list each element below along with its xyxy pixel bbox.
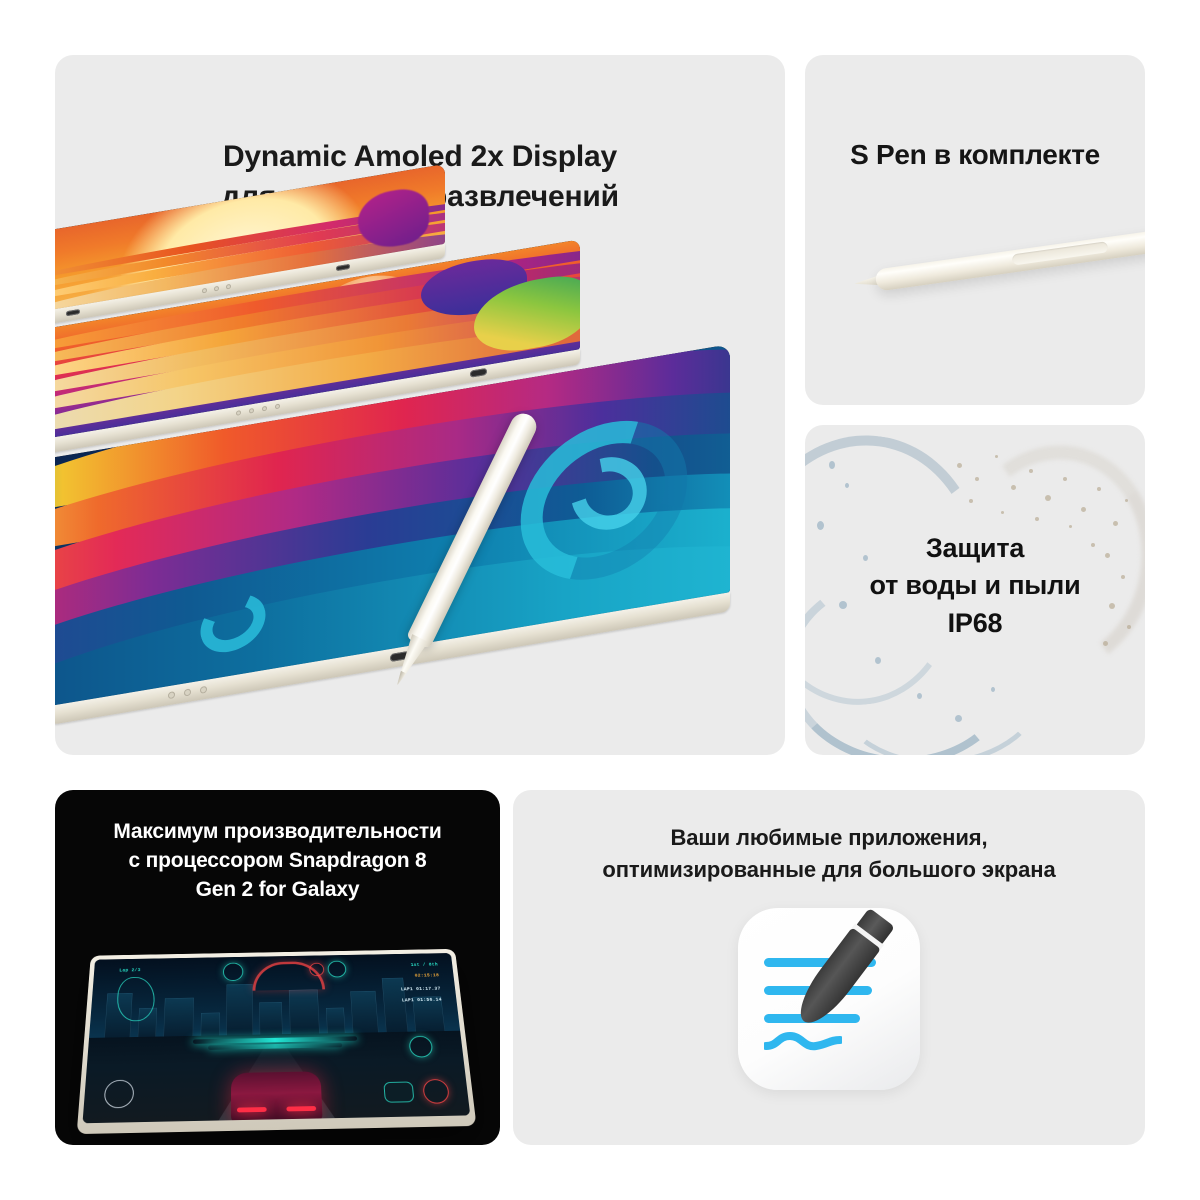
- usb-c-port: [336, 264, 350, 271]
- speaker-hole: [168, 691, 175, 699]
- s-pen-product-image: [844, 224, 1145, 305]
- pen-body: [790, 927, 881, 1032]
- s-pen-panel-heading: S Pen в комплекте: [805, 139, 1145, 171]
- apps-heading-line1: Ваши любимые приложения,: [513, 822, 1145, 854]
- game-total-time: 02:15:18: [415, 973, 440, 978]
- performance-heading-line3: Gen 2 for Galaxy: [69, 876, 486, 905]
- speaker-hole: [249, 408, 254, 414]
- game-car: [231, 1071, 323, 1123]
- gaming-tablet: Lap 2/3 1st / 8th 02:15:18 LAP1 01:17.37…: [77, 930, 477, 1130]
- speaker-hole: [275, 404, 280, 410]
- gaming-tablet-screen: Lap 2/3 1st / 8th 02:15:18 LAP1 01:17.37…: [82, 953, 470, 1123]
- gaming-tablet-frame: Lap 2/3 1st / 8th 02:15:18 LAP1 01:17.37…: [77, 949, 477, 1134]
- speaker-hole: [200, 686, 207, 694]
- ip68-heading-line2: от воды и пыли: [805, 567, 1145, 604]
- speaker-hole: [236, 410, 241, 416]
- speaker-hole: [184, 688, 191, 696]
- apps-panel: Ваши любимые приложения, оптимизированны…: [513, 790, 1145, 1145]
- game-position-label: 1st / 8th: [410, 962, 438, 967]
- speaker-hole: [214, 286, 219, 292]
- performance-heading-line1: Максимум производительности: [69, 818, 486, 847]
- ip68-panel-heading: Защита от воды и пыли IP68: [805, 530, 1145, 642]
- usb-c-port: [470, 368, 487, 378]
- s-pen-panel: S Pen в комплекте: [805, 55, 1145, 405]
- tablet-stack: [55, 230, 785, 755]
- game-lap1-time: LAP1 01:17.37: [401, 987, 441, 993]
- s-pen-tip: [395, 671, 407, 686]
- speaker-hole: [262, 406, 267, 412]
- apps-heading-line2: оптимизированные для большого экрана: [513, 854, 1145, 886]
- ip68-heading-line1: Защита: [805, 530, 1145, 567]
- notes-app-icon[interactable]: [738, 908, 920, 1090]
- speaker-hole: [226, 284, 231, 290]
- performance-panel-heading: Максимум производительности с процессоро…: [55, 818, 500, 905]
- ip68-heading-line3: IP68: [805, 605, 1145, 642]
- usb-c-port: [66, 309, 80, 316]
- usb-c-port: [390, 651, 410, 662]
- game-lap-label: Lap 2/3: [119, 968, 141, 973]
- display-panel: Dynamic Amoled 2x Display для работы и р…: [55, 55, 785, 755]
- promo-page: Dynamic Amoled 2x Display для работы и р…: [0, 0, 1200, 1200]
- s-pen-shaft: [874, 229, 1145, 291]
- ip68-panel: Защита от воды и пыли IP68: [805, 425, 1145, 755]
- performance-heading-line2: с процессором Snapdragon 8: [69, 847, 486, 876]
- performance-panel: Максимум производительности с процессоро…: [55, 790, 500, 1145]
- speaker-hole: [202, 288, 207, 294]
- game-lap2-time: LAP1 01:56.14: [402, 998, 443, 1004]
- apps-panel-heading: Ваши любимые приложения, оптимизированны…: [513, 822, 1145, 886]
